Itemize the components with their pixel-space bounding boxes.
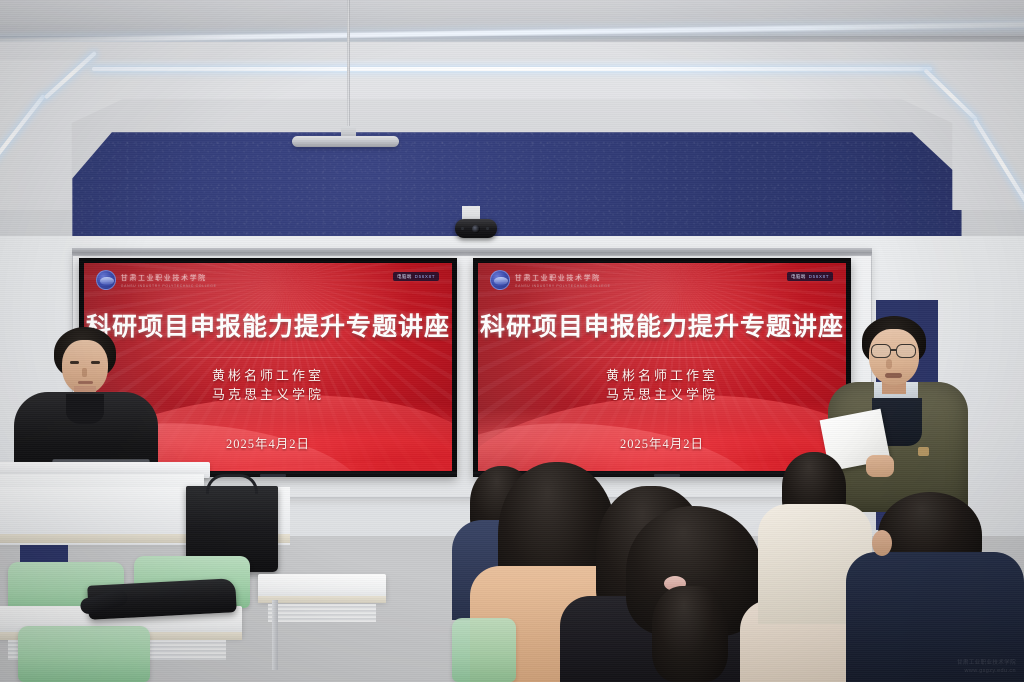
glasses-lens-left <box>871 344 891 358</box>
mouth <box>885 373 902 378</box>
camera-lens-icon <box>472 225 480 233</box>
source-label: 电脑端 <box>397 274 412 280</box>
photo-watermark: 甘肃工业职业技术学院 www.gsgzy.edu.cn <box>957 659 1016 676</box>
source-label: 电脑端 <box>791 274 806 280</box>
desk-leg <box>272 600 278 670</box>
display-brand-badge <box>260 474 286 477</box>
school-name-en: GANSU INDUSTRY POLYTECHNIC COLLEGE <box>121 284 217 288</box>
slide-subtitle-right: 黄彬名师工作室 马克思主义学院 <box>478 367 846 405</box>
school-name-en: GANSU INDUSTRY POLYTECHNIC COLLEGE <box>515 284 611 288</box>
slide-title-right: 科研项目申报能力提升专题讲座 <box>478 307 846 343</box>
audience-6-ear <box>872 530 892 556</box>
ceiling-microphone-bar <box>292 136 399 147</box>
slide-subtitle-line-1: 黄彬名师工作室 <box>84 367 452 386</box>
source-code: D56X8T <box>415 274 435 279</box>
camera-led-dot <box>486 227 489 230</box>
speaker-right-hand <box>866 455 894 477</box>
presenter-left-collar <box>66 394 104 424</box>
eye-left <box>70 361 79 364</box>
slide-title-left: 科研项目申报能力提升专题讲座 <box>84 307 452 343</box>
watermark-line-1: 甘肃工业职业技术学院 <box>957 659 1016 667</box>
display-brand-badge <box>654 474 680 477</box>
slide-subtitle-line-1: 黄彬名师工作室 <box>478 367 846 386</box>
glasses-lens-right <box>896 344 916 358</box>
camera-mic-dot <box>461 227 464 230</box>
slide-divider <box>530 357 795 358</box>
school-logo-icon <box>490 270 510 290</box>
desk-shelf <box>268 604 376 622</box>
nose <box>82 368 87 377</box>
slide-date-right: 2025年4月2日 <box>478 433 846 452</box>
slide-header-left: 甘肃工业职业技术学院 GANSU INDUSTRY POLYTECHNIC CO… <box>96 270 217 290</box>
slide-header-right: 甘肃工业职业技术学院 GANSU INDUSTRY POLYTECHNIC CO… <box>490 270 611 290</box>
slide-divider <box>136 357 401 358</box>
whiteboard-rail <box>72 248 872 256</box>
source-badge-right: 电脑端 D56X8T <box>787 272 833 281</box>
school-logo-icon <box>96 270 116 290</box>
glasses-bridge-icon <box>891 349 896 351</box>
eye-right <box>91 361 100 364</box>
school-name-cn: 甘肃工业职业技术学院 <box>515 273 611 283</box>
source-badge-left: 电脑端 D56X8T <box>393 272 439 281</box>
slide-subtitle-line-2: 马克思主义学院 <box>478 386 846 405</box>
source-code: D56X8T <box>809 274 829 279</box>
bag-handle <box>206 474 258 494</box>
jacket-logo-icon <box>918 447 929 456</box>
wall-camera <box>455 219 497 238</box>
chair-4[interactable] <box>452 618 516 682</box>
nose <box>886 359 892 369</box>
chair-1[interactable] <box>18 626 150 682</box>
ceiling-mic-rod <box>347 0 350 134</box>
audience-4-ponytail <box>652 586 728 682</box>
school-name-cn: 甘肃工业职业技术学院 <box>121 273 217 283</box>
watermark-line-2: www.gsgzy.edu.cn <box>957 667 1016 675</box>
mouth <box>78 381 93 384</box>
slide-right: 甘肃工业职业技术学院 GANSU INDUSTRY POLYTECHNIC CO… <box>478 263 846 471</box>
display-right[interactable]: 甘肃工业职业技术学院 GANSU INDUSTRY POLYTECHNIC CO… <box>473 258 851 476</box>
photo-scene: 甘肃工业职业技术学院 GANSU INDUSTRY POLYTECHNIC CO… <box>0 0 1024 682</box>
